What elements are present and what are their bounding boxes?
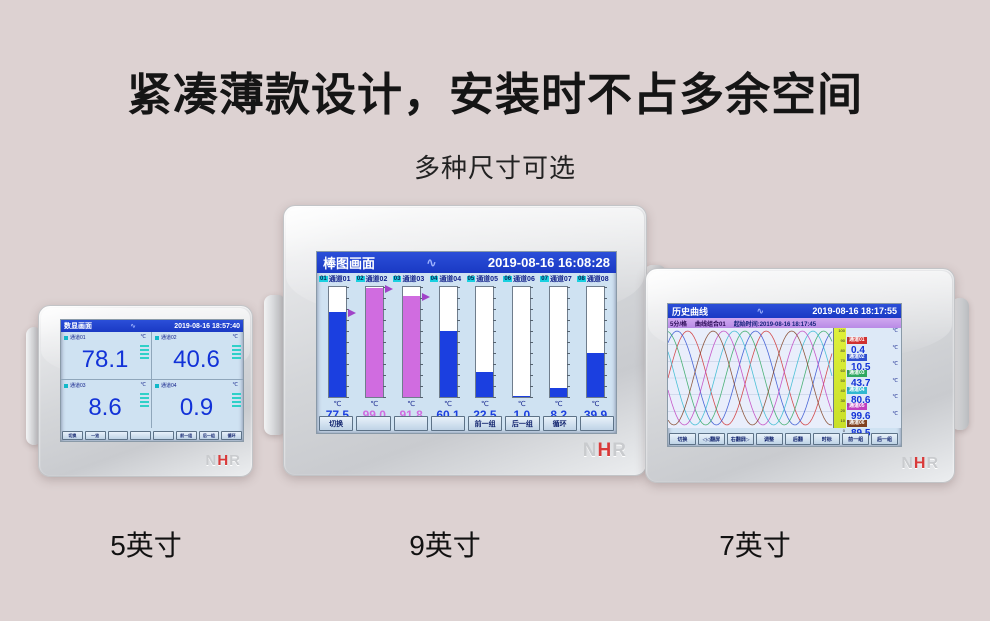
screen-7inch-timestamp: 2019-08-16 18:17:55 — [812, 306, 897, 316]
bar-cell[interactable] — [356, 286, 393, 400]
curve-legend-unit: ℃ — [892, 394, 898, 400]
bar-channel-name: 通道08 — [587, 274, 609, 284]
bar-ticks — [383, 287, 388, 397]
bar-cell[interactable] — [393, 286, 430, 400]
bar-channel-label: 06通道06 — [503, 273, 540, 285]
bar-channel-number: 04 — [430, 276, 439, 282]
button-prev-group[interactable]: 前一组 — [468, 416, 502, 431]
button-timescale[interactable]: 时标 — [813, 433, 840, 445]
digital-cell-unit: ℃ — [140, 334, 146, 340]
curve-y-tick: 70 — [841, 358, 845, 363]
page-title: 紧凑薄款设计，安装时不占多余空间 — [0, 58, 990, 123]
curve-legend-unit: ℃ — [892, 345, 898, 351]
bar-tube — [439, 286, 458, 398]
bar-channel-number: 07 — [540, 276, 549, 282]
button-next-group[interactable]: 后一组 — [505, 416, 539, 431]
curve-y-tick: 20 — [841, 408, 845, 413]
bar-ticks — [420, 287, 425, 397]
level-indicator-icon — [232, 393, 241, 409]
bar-fill — [403, 296, 420, 397]
curve-legend-marker-icon: ▷ — [847, 353, 850, 358]
screen-9inch-title: 棒图画面 — [323, 253, 375, 272]
bar-channel-number: 08 — [577, 276, 586, 282]
digital-cell-channel: 通道03 — [70, 382, 86, 389]
bar-tube — [475, 286, 494, 398]
button-next-group[interactable]: 后一组 — [871, 433, 898, 445]
digital-cell[interactable]: 通道04 ℃ 0.9 — [152, 380, 243, 428]
curve-legend-unit: ℃ — [892, 361, 898, 367]
brand-logo: NHR — [901, 455, 939, 473]
bar-channel-number: 05 — [467, 276, 476, 282]
bar-cell[interactable] — [467, 286, 504, 400]
screen-5inch-titlebar: 数显画面 ∿ 2019-08-16 18:57:40 — [61, 320, 243, 332]
curve-subheader: 5分/格 曲线组合01 起始时间:2019-08-16 18:17:45 — [668, 318, 901, 328]
curve-legend-item[interactable]: 通道02℃▷10.5 — [846, 345, 901, 362]
bar-ticks — [530, 287, 535, 397]
screen-5inch-title: 数显画面 — [64, 321, 92, 331]
bar-channel-number: 02 — [356, 276, 365, 282]
curve-scale-label: 5分/格 — [670, 319, 687, 328]
size-label-9inch: 9英寸 — [345, 524, 545, 564]
button-page-left[interactable]: ◁◁翻屏 — [698, 433, 725, 445]
curve-y-axis-scale: 1009080706050403020100 — [833, 328, 846, 428]
curve-legend-item[interactable]: 通道06℃▷89.5 — [846, 411, 901, 428]
channel-dot-icon — [64, 336, 68, 340]
brand-letter-n: N — [205, 452, 217, 469]
screen-5inch[interactable]: 数显画面 ∿ 2019-08-16 18:57:40 通道01 ℃ 78.1 通… — [60, 319, 244, 442]
digital-cell[interactable]: 通道03 ℃ 8.6 — [61, 380, 152, 428]
screen-5inch-timestamp: 2019-08-16 18:57:40 — [174, 323, 240, 330]
bar-chart-plot — [319, 286, 614, 400]
curve-y-tick: 80 — [841, 348, 845, 353]
bar-channel-name: 通道03 — [402, 274, 424, 284]
screen-9inch-timestamp: 2019-08-16 16:08:28 — [488, 255, 610, 270]
bar-fill — [329, 312, 346, 397]
bar-tube — [365, 286, 384, 398]
screen-5inch-button-bar: 切换 一览 前一组 后一组 循环 — [62, 431, 242, 440]
button-cycle[interactable]: 循环 — [221, 431, 242, 440]
brand-letter-n: N — [583, 440, 598, 461]
device-5inch[interactable]: 数显画面 ∿ 2019-08-16 18:57:40 通道01 ℃ 78.1 通… — [38, 305, 253, 477]
curve-legend: 通道01℃▷0.4通道02℃▷10.5通道03℃▷43.7通道04℃▷80.6通… — [846, 328, 901, 428]
bar-ticks — [457, 287, 462, 397]
digital-cell-header: 通道01 — [64, 334, 86, 341]
bar-ticks — [346, 287, 351, 397]
button-prev-group[interactable]: 前一组 — [842, 433, 869, 445]
bar-channel-label: 04通道04 — [430, 273, 467, 285]
waveform-icon: ∿ — [375, 255, 488, 271]
waveform-icon: ∿ — [92, 322, 174, 330]
button-back[interactable]: 后翻 — [785, 433, 812, 445]
bar-channel-name: 通道01 — [329, 274, 351, 284]
bar-channel-number: 01 — [319, 276, 328, 282]
curve-y-tick: 90 — [841, 338, 845, 343]
brand-letter-r: R — [229, 452, 241, 469]
digital-cell-unit: ℃ — [232, 334, 238, 340]
bar-cell[interactable] — [503, 286, 540, 400]
curve-start-time: 起始时间:2019-08-16 18:17:45 — [734, 319, 816, 328]
curve-legend-marker-icon: ▷ — [847, 402, 850, 407]
button-overview[interactable]: 一览 — [85, 431, 106, 440]
bar-channel-name: 通道06 — [513, 274, 535, 284]
digital-cell[interactable]: 通道01 ℃ 78.1 — [61, 332, 152, 380]
digital-cell-unit: ℃ — [232, 382, 238, 388]
digital-cell-unit: ℃ — [140, 382, 146, 388]
button-switch[interactable]: 切换 — [669, 433, 696, 445]
bar-cell[interactable] — [577, 286, 614, 400]
bar-fill — [513, 396, 530, 397]
size-label-5inch: 5英寸 — [46, 524, 246, 564]
bar-fill — [587, 353, 604, 397]
page-subtitle: 多种尺寸可选 — [0, 148, 990, 185]
curve-y-tick: 50 — [841, 378, 845, 383]
bar-channel-label: 02通道02 — [356, 273, 393, 285]
button-switch[interactable]: 切换 — [319, 416, 353, 431]
digital-cell-channel: 通道02 — [161, 334, 177, 341]
bar-chart-channel-labels: 01通道0102通道0203通道0304通道0405通道0506通道0607通道… — [319, 273, 614, 285]
curve-group-label: 曲线组合01 — [695, 319, 726, 328]
channel-dot-icon — [155, 336, 159, 340]
curve-y-tick: 40 — [841, 388, 845, 393]
bar-fill — [476, 372, 493, 397]
bar-ticks — [604, 287, 609, 397]
curve-y-tick: 30 — [841, 398, 845, 403]
screen-7inch-button-bar: 切换 ◁◁翻屏 右翻屏▷ 调整 后翻 时标 前一组 后一组 — [669, 433, 898, 445]
bar-channel-label: 01通道01 — [319, 273, 356, 285]
brand-letter-n: N — [901, 455, 914, 472]
brand-letter-h: H — [598, 440, 613, 461]
digital-cell-value: 40.6 — [152, 341, 241, 378]
brand-letter-r: R — [926, 455, 939, 472]
button-adjust[interactable]: 调整 — [756, 433, 783, 445]
screen-9inch-button-bar: 切换 前一组 后一组 循环 — [319, 416, 614, 431]
bar-channel-name: 通道04 — [439, 274, 461, 284]
digital-cell-channel: 通道01 — [70, 334, 86, 341]
curve-plot — [668, 328, 833, 428]
curve-legend-item[interactable]: 通道05℃▷99.6 — [846, 394, 901, 411]
bar-tube — [549, 286, 568, 398]
bar-tube — [402, 286, 421, 398]
curve-y-tick: 100 — [838, 328, 845, 333]
button-5[interactable] — [153, 431, 174, 440]
brand-letter-r: R — [612, 440, 627, 461]
curve-legend-unit: ℃ — [892, 411, 898, 417]
channel-dot-icon — [64, 384, 68, 388]
screen-9inch-titlebar: 棒图画面 ∿ 2019-08-16 16:08:28 — [317, 252, 616, 273]
button-page-right[interactable]: 右翻屏▷ — [727, 433, 754, 445]
curve-legend-item[interactable]: 通道04℃▷80.6 — [846, 378, 901, 395]
size-label-7inch: 7英寸 — [655, 524, 855, 564]
bar-channel-number: 03 — [393, 276, 402, 282]
level-indicator-icon — [232, 345, 241, 361]
bar-channel-label: 08通道08 — [577, 273, 614, 285]
screen-7inch[interactable]: 历史曲线 ∿ 2019-08-16 18:17:55 5分/格 曲线组合01 起… — [667, 303, 902, 447]
button-switch[interactable]: 切换 — [62, 431, 83, 440]
curve-y-tick: 10 — [841, 418, 845, 423]
bar-cell[interactable] — [430, 286, 467, 400]
curve-legend-item[interactable]: 通道01℃▷0.4 — [846, 328, 901, 345]
button-4[interactable] — [431, 416, 465, 431]
digital-cell-value: 78.1 — [61, 341, 149, 378]
button-8[interactable] — [580, 416, 614, 431]
button-2[interactable] — [356, 416, 390, 431]
bar-tube — [512, 286, 531, 398]
curve-legend-marker-icon: ▷ — [847, 386, 850, 391]
brand-letter-h: H — [914, 455, 927, 472]
button-4[interactable] — [130, 431, 151, 440]
button-prev-group[interactable]: 前一组 — [176, 431, 197, 440]
waveform-icon: ∿ — [708, 306, 812, 317]
bar-ticks — [567, 287, 572, 397]
digital-cell-channel: 通道04 — [161, 382, 177, 389]
bar-fill — [550, 388, 567, 397]
bar-channel-label: 07通道07 — [540, 273, 577, 285]
bar-channel-name: 通道07 — [550, 274, 572, 284]
digital-cell-header: 通道03 — [64, 382, 86, 389]
digital-cell-value: 8.6 — [61, 389, 149, 427]
brand-letter-h: H — [217, 452, 229, 469]
screen-7inch-titlebar: 历史曲线 ∿ 2019-08-16 18:17:55 — [668, 304, 901, 318]
screen-9inch[interactable]: 棒图画面 ∿ 2019-08-16 16:08:28 01通道0102通道020… — [316, 251, 617, 434]
bar-fill — [366, 288, 383, 397]
digital-cell-value: 0.9 — [152, 389, 241, 427]
curve-legend-marker-icon: ▷ — [847, 369, 850, 374]
digital-cell-header: 通道04 — [155, 382, 177, 389]
bar-channel-number: 06 — [503, 276, 512, 282]
button-3[interactable] — [394, 416, 428, 431]
button-cycle[interactable]: 循环 — [543, 416, 577, 431]
bar-channel-name: 通道02 — [366, 274, 388, 284]
level-indicator-icon — [140, 345, 149, 361]
digital-cell-header: 通道02 — [155, 334, 177, 341]
button-next-group[interactable]: 后一组 — [199, 431, 220, 440]
brand-logo: NHR — [205, 452, 241, 469]
curve-y-tick: 60 — [841, 368, 845, 373]
curve-legend-unit: ℃ — [892, 328, 898, 334]
channel-dot-icon — [155, 384, 159, 388]
bar-cell[interactable] — [540, 286, 577, 400]
bar-cell[interactable] — [319, 286, 356, 400]
bar-tube — [586, 286, 605, 398]
curve-legend-marker-icon: ▷ — [847, 336, 850, 341]
brand-logo: NHR — [583, 440, 627, 462]
bar-channel-name: 通道05 — [476, 274, 498, 284]
curve-legend-marker-icon: ▷ — [847, 419, 850, 424]
device-9inch[interactable]: 棒图画面 ∿ 2019-08-16 16:08:28 01通道0102通道020… — [283, 205, 647, 476]
level-indicator-icon — [140, 393, 149, 409]
screen-7inch-title: 历史曲线 — [672, 305, 708, 318]
bar-tube — [328, 286, 347, 398]
curve-legend-item[interactable]: 通道03℃▷43.7 — [846, 361, 901, 378]
button-3[interactable] — [108, 431, 129, 440]
digital-cell[interactable]: 通道02 ℃ 40.6 — [152, 332, 243, 380]
bar-fill — [440, 331, 457, 397]
bar-channel-label: 05通道05 — [467, 273, 504, 285]
bar-ticks — [493, 287, 498, 397]
curve-legend-unit: ℃ — [892, 378, 898, 384]
digital-value-grid: 通道01 ℃ 78.1 通道02 ℃ 40.6 通道03 — [61, 332, 243, 428]
bar-channel-label: 03通道03 — [393, 273, 430, 285]
device-7inch[interactable]: 历史曲线 ∿ 2019-08-16 18:17:55 5分/格 曲线组合01 起… — [645, 268, 955, 483]
